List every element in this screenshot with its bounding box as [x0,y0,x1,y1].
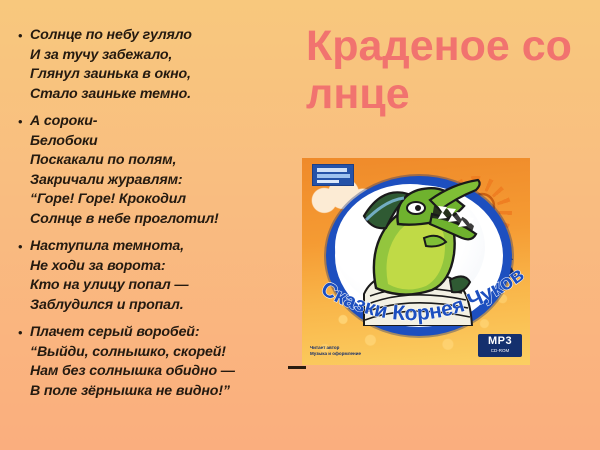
mp3-badge-sublabel: CD-ROM [478,348,522,354]
stanza-text: Наступила темнота, Не ходи за ворота: Кт… [30,237,188,315]
list-item: • Наступила темнота, Не ходи за ворота: … [18,237,298,315]
slide-canvas: • Солнце по небу гуляло И за тучу забежа… [0,0,600,450]
list-item: • Солнце по небу гуляло И за тучу забежа… [18,26,298,104]
poem-text-block: • Солнце по небу гуляло И за тучу забежа… [18,26,298,409]
bullet-icon: • [18,237,30,257]
bullet-icon: • [18,26,30,46]
list-item: • Плачет серый воробей: “Выйди, солнышко… [18,323,298,401]
mp3-badge-label: MP3 [488,335,512,347]
page-title: Краденое солнце [306,22,592,118]
cover-arc-title: Сказки Корнея Чуковского [302,262,530,342]
stray-mark [288,366,306,369]
mp3-format-badge: MP3 CD-ROM [478,334,522,357]
audiobook-cover-image: Сказки Корнея Чуковского Читает автор Му… [302,158,530,365]
cover-arc-title-text: Сказки Корнея Чуковского [302,262,528,325]
stanza-text: Плачет серый воробей: “Выйди, солнышко, … [30,323,235,401]
stanza-text: А сороки- Белобоки Поскакали по полям, З… [30,112,219,229]
bullet-icon: • [18,323,30,343]
cover-credits: Читает автор Музыка и оформление [310,345,376,357]
bullet-icon: • [18,112,30,132]
svg-text:Сказки Корнея Чуковского: Сказки Корнея Чуковского [302,262,528,325]
stanza-text: Солнце по небу гуляло И за тучу забежало… [30,26,192,104]
list-item: • А сороки- Белобоки Поскакали по полям,… [18,112,298,229]
cover-credits-line-2: Музыка и оформление [310,351,376,357]
